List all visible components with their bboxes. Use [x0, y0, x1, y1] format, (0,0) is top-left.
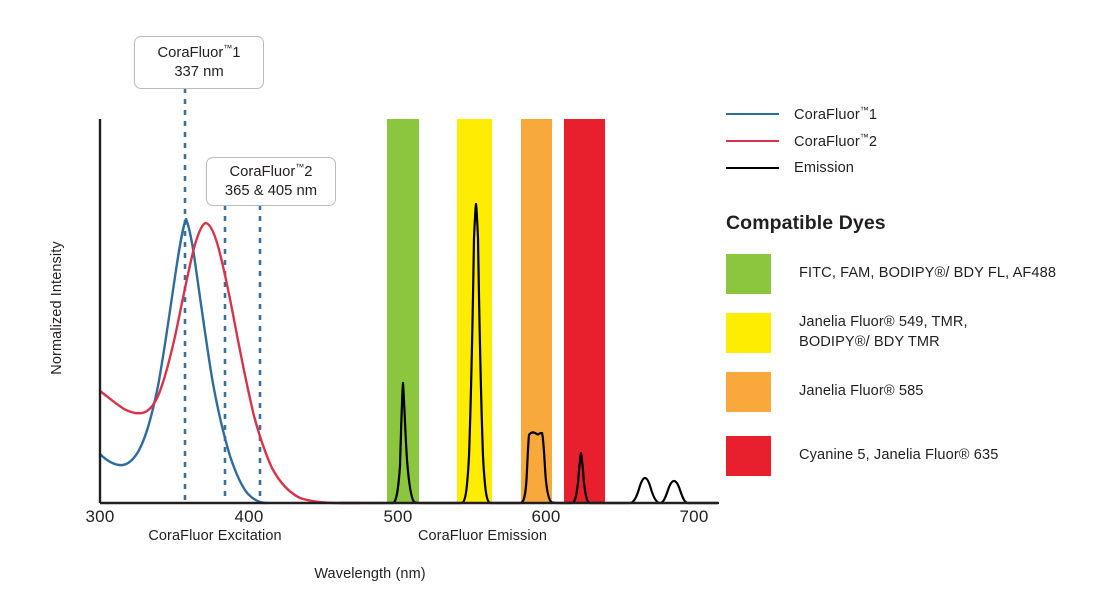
- dye-swatch-orange: [726, 372, 771, 412]
- dye-item-green: FITC, FAM, BODIPY®/ BDY FL, AF488: [726, 254, 1110, 294]
- dye-label-yellow: Janelia Fluor® 549, TMR, BODIPY®/ BDY TM…: [799, 313, 968, 352]
- trademark-icon: ™: [295, 162, 304, 172]
- xtick-400: 400: [219, 507, 279, 527]
- legend-line-icon: [726, 113, 779, 115]
- legend-panel: CoraFluor™1 CoraFluor™2 Emission Compati…: [726, 100, 1110, 476]
- dye-label-orange: Janelia Fluor® 585: [799, 382, 924, 402]
- band-orange: [521, 119, 552, 503]
- band-yellow: [457, 119, 492, 503]
- xtick-300: 300: [70, 507, 130, 527]
- dye-swatch-red: [726, 436, 771, 476]
- callout-corafluor1-title: CoraFluor™1: [143, 42, 255, 64]
- dye-item-yellow: Janelia Fluor® 549, TMR, BODIPY®/ BDY TM…: [726, 313, 1110, 353]
- xtick-500: 500: [368, 507, 428, 527]
- dye-item-red: Cyanine 5, Janelia Fluor® 635: [726, 436, 1110, 476]
- trademark-icon: ™: [860, 105, 869, 115]
- dye-label-red: Cyanine 5, Janelia Fluor® 635: [799, 446, 998, 466]
- excitation-markers: [185, 88, 260, 503]
- callout-corafluor2-title: CoraFluor™2: [215, 161, 327, 183]
- callout-corafluor2: CoraFluor™2 365 & 405 nm: [206, 157, 336, 206]
- xtick-700: 700: [664, 507, 724, 527]
- legend-item-corafluor2: CoraFluor™2: [726, 127, 1110, 154]
- dye-bands: [387, 119, 605, 503]
- callout-corafluor1: CoraFluor™1 337 nm: [134, 36, 264, 89]
- legend-line-icon: [726, 167, 779, 169]
- legend-label-corafluor1: CoraFluor™1: [794, 105, 877, 123]
- axis-sublabel-excitation: CoraFluor Excitation: [135, 528, 295, 544]
- curve-corafluor2: [100, 223, 360, 503]
- xtick-600: 600: [516, 507, 576, 527]
- legend-line-icon: [726, 140, 779, 142]
- dye-label-green: FITC, FAM, BODIPY®/ BDY FL, AF488: [799, 264, 1056, 284]
- trademark-icon: ™: [223, 43, 232, 53]
- legend-label-emission: Emission: [794, 160, 854, 176]
- band-green: [387, 119, 419, 503]
- x-axis-label: Wavelength (nm): [0, 566, 740, 582]
- dye-item-orange: Janelia Fluor® 585: [726, 372, 1110, 412]
- callout-corafluor2-value: 365 & 405 nm: [215, 182, 327, 202]
- band-red: [564, 119, 605, 503]
- axis-sublabel-emission: CoraFluor Emission: [410, 528, 555, 544]
- legend-item-emission: Emission: [726, 154, 1110, 181]
- compatible-dyes-heading: Compatible Dyes: [726, 212, 1110, 235]
- spectra-chart: Normalized Intensity: [0, 0, 740, 612]
- callout-corafluor1-value: 337 nm: [143, 63, 255, 83]
- dye-swatch-yellow: [726, 313, 771, 353]
- dye-swatch-green: [726, 254, 771, 294]
- legend-item-corafluor1: CoraFluor™1: [726, 100, 1110, 127]
- legend-label-corafluor2: CoraFluor™2: [794, 132, 877, 150]
- trademark-icon: ™: [860, 132, 869, 142]
